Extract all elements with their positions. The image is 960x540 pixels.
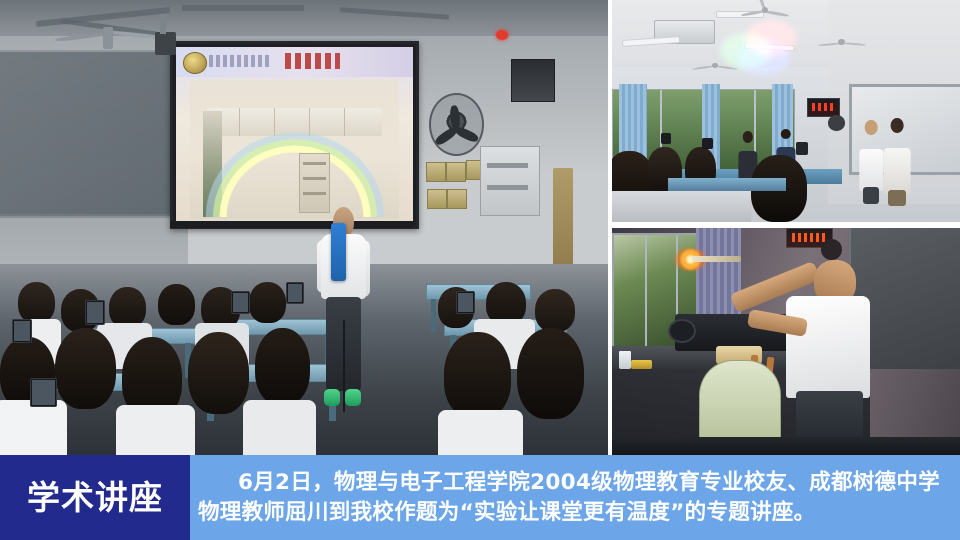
flame-demo-photo	[612, 228, 960, 455]
lecture-poster: 学术讲座 6月2日，物理与电子工程学院2004级物理教育专业校友、成都树德中学物…	[0, 0, 960, 540]
rgb-ceiling-photo	[612, 0, 960, 222]
banner-tag: 学术讲座	[0, 455, 190, 540]
banner-tag-label: 学术讲座	[27, 481, 163, 514]
caption-text-area: 6月2日，物理与电子工程学院2004级物理教育专业校友、成都树德中学物理教师屈川…	[190, 455, 960, 540]
main-lecture-photo	[0, 0, 608, 455]
caption-banner: 学术讲座 6月2日，物理与电子工程学院2004级物理教育专业校友、成都树德中学物…	[0, 455, 960, 540]
caption-paragraph: 6月2日，物理与电子工程学院2004级物理教育专业校友、成都树德中学物理教师屈川…	[190, 468, 960, 527]
